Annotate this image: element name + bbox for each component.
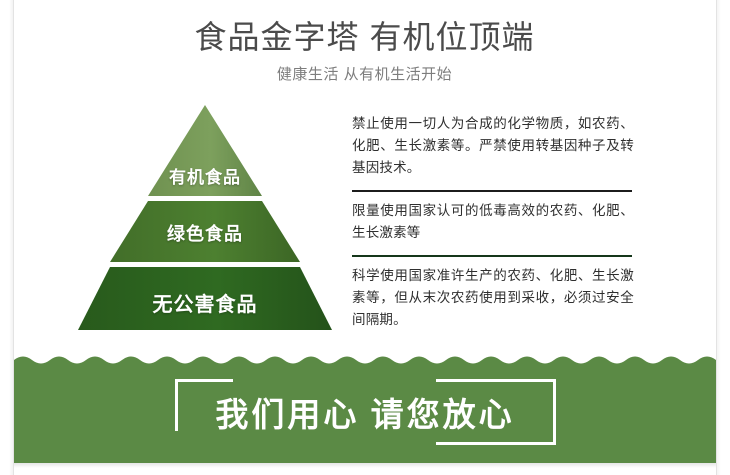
banner-bottom-shadow [14,463,716,468]
page-subtitle: 健康生活 从有机生活开始 [13,65,716,85]
divider-1 [352,190,632,192]
bottom-banner: 我们用心 请您放心 [14,352,716,463]
frame-shadow-right [717,0,721,475]
pyramid-tier-top-shape [148,105,262,196]
divider-2 [352,255,632,257]
description-column: 禁止使用一切人为合成的化学物质，如农药、化肥、生长激素等。严禁使用转基因种子及转… [352,113,634,331]
header: 食品金字塔 有机位顶端 健康生活 从有机生活开始 [13,0,716,85]
pyramid-label-organic: 有机食品 [0,163,410,188]
banner-bracket-frame: 我们用心 请您放心 [175,379,556,445]
pyramid-tier-bottom-shape [78,267,332,330]
description-organic: 禁止使用一切人为合成的化学物质，如农药、化肥、生长激素等。严禁使用转基因种子及转… [352,113,634,181]
pyramid-label-pollution-free: 无公害食品 [0,288,410,317]
pyramid-label-green: 绿色食品 [0,220,410,246]
banner-content: 我们用心 请您放心 [14,352,716,463]
frame-border-right [716,0,717,475]
pyramid-tier-middle-shape [110,201,300,262]
banner-slogan: 我们用心 请您放心 [175,379,556,445]
page-title: 食品金字塔 有机位顶端 [13,17,716,57]
description-green: 限量使用国家认可的低毒高效的农药、化肥、生长激素等 [352,200,634,246]
description-pollution-free: 科学使用国家准许生产的农药、化肥、生长激素等，但从末次农药使用到采收，必须过安全… [352,265,634,331]
page-canvas: 食品金字塔 有机位顶端 健康生活 从有机生活开始 [0,0,730,475]
